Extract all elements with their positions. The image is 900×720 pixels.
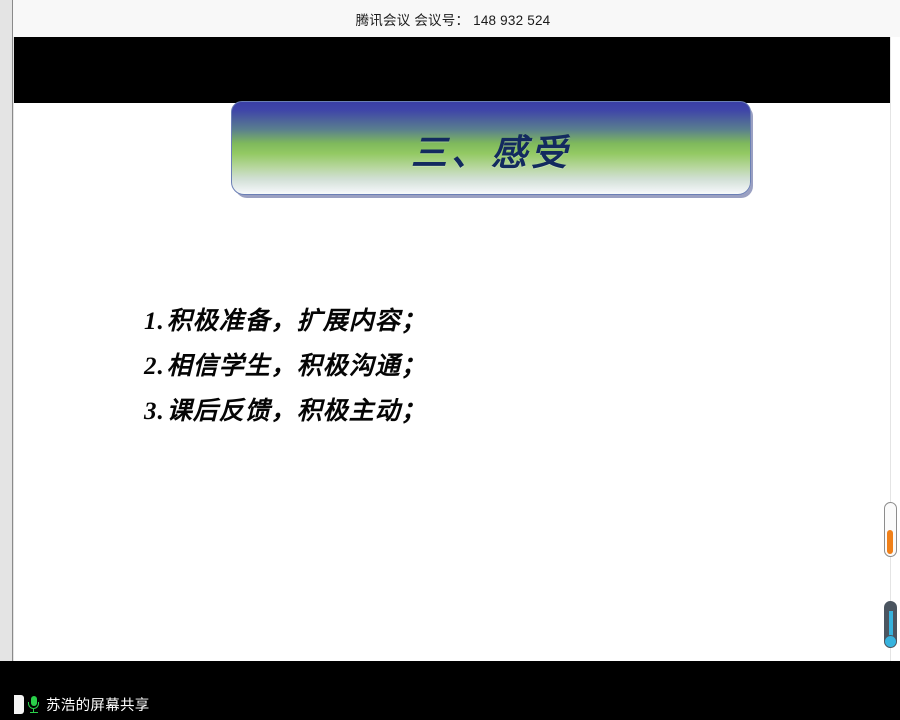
- scrollbar-thumb[interactable]: [887, 530, 892, 554]
- topbar-left-gutter: [0, 0, 13, 37]
- list-item-text: 课后反馈，积极主动；: [167, 398, 427, 425]
- list-item: 3.课后反馈，积极主动；: [144, 389, 564, 434]
- scrollbar-orange-icon[interactable]: [884, 502, 897, 557]
- list-item-text: 积极准备，扩展内容；: [167, 308, 427, 335]
- list-item-text: 相信学生，积极沟通；: [167, 353, 427, 380]
- thermometer-bulb: [884, 635, 897, 648]
- letterbox-band-top: [14, 37, 890, 103]
- screen-share-status: 苏浩的屏幕共享: [0, 692, 150, 720]
- right-gutter: [891, 37, 900, 661]
- list-item-number: 3.: [144, 398, 165, 425]
- screen-share-label: 苏浩的屏幕共享: [46, 694, 150, 715]
- meeting-top-bar: 腾讯会议 会议号： 148 932 524: [0, 0, 900, 37]
- list-item-number: 2.: [144, 353, 165, 380]
- thermometer-icon: [884, 601, 897, 651]
- screen-share-bottom-bar: 苏浩的屏幕共享: [0, 661, 900, 720]
- slide-bullet-list: 1.积极准备，扩展内容； 2.相信学生，积极沟通； 3.课后反馈，积极主动；: [144, 299, 564, 434]
- left-gutter: [0, 37, 13, 661]
- list-item: 2.相信学生，积极沟通；: [144, 344, 564, 389]
- list-item: 1.积极准备，扩展内容；: [144, 299, 564, 344]
- shared-slide-canvas: 三、感受 1.积极准备，扩展内容； 2.相信学生，积极沟通； 3.课后反馈，积极…: [14, 103, 890, 661]
- avatar: [14, 695, 24, 714]
- meeting-screen-share-view: 腾讯会议 会议号： 148 932 524 三、感受 1.积极准备，扩展内容； …: [0, 0, 900, 720]
- list-item-number: 1.: [144, 308, 165, 335]
- meeting-title-text: 腾讯会议 会议号： 148 932 524: [356, 9, 551, 29]
- microphone-icon[interactable]: [26, 695, 41, 714]
- slide-title-banner: 三、感受: [231, 101, 751, 195]
- microphone-base: [30, 712, 38, 714]
- slide-title-text: 三、感受: [411, 124, 571, 176]
